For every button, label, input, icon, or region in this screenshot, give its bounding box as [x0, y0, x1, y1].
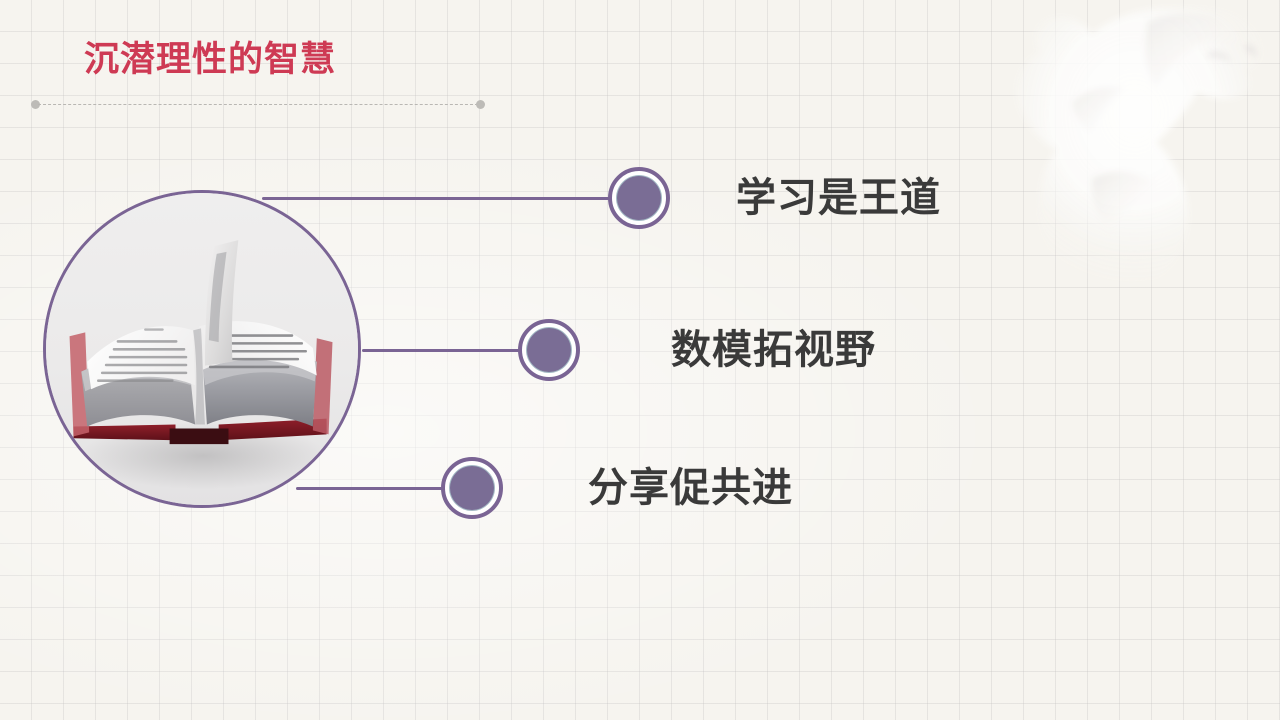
bullet-marker-1[interactable]	[608, 167, 670, 229]
page-title: 沉潜理性的智慧	[84, 41, 336, 80]
bullet-label-2: 数模拓视野	[671, 330, 876, 370]
bullet-marker-2-inner	[527, 328, 571, 372]
bullet-marker-3[interactable]	[441, 457, 503, 519]
title-divider	[31, 103, 485, 106]
bullet-marker-1-inner	[617, 176, 661, 220]
connector-line-2	[362, 349, 520, 352]
bullet-label-1: 学习是王道	[736, 178, 941, 218]
open-book-photo	[43, 190, 361, 508]
divider-dot-right	[476, 100, 485, 109]
bullet-label-3: 分享促共进	[588, 468, 793, 508]
presentation-slide: 沉潜理性的智慧	[0, 0, 1280, 720]
divider-rule	[38, 104, 478, 105]
bullet-marker-3-inner	[450, 466, 494, 510]
bullet-marker-2[interactable]	[518, 319, 580, 381]
connector-line-1	[262, 197, 620, 200]
